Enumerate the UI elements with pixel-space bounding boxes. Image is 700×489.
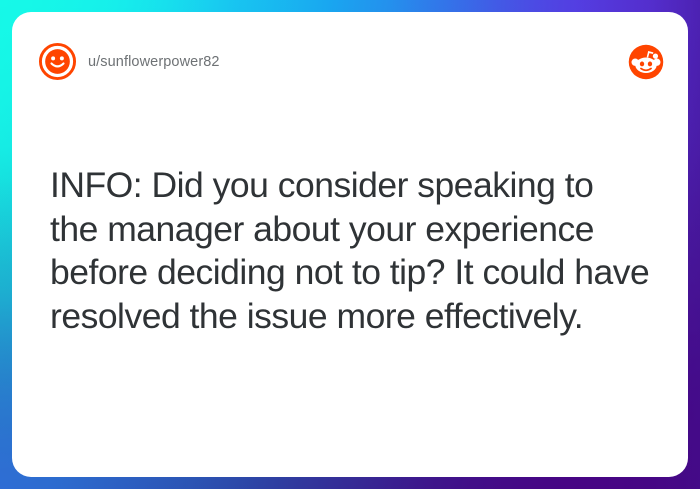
post-card-header: u/sunflowerpower82 — [12, 12, 688, 108]
post-author-username: u/sunflowerpower82 — [88, 54, 220, 70]
post-body-text: INFO: Did you consider speaking to the m… — [50, 164, 650, 338]
screenshot-stage: u/sunflowerpower82 — [0, 0, 700, 489]
smiley-face-avatar-icon — [38, 42, 77, 81]
reddit-snoo-logo-icon[interactable] — [628, 44, 664, 80]
post-author[interactable]: u/sunflowerpower82 — [38, 42, 220, 81]
post-card: u/sunflowerpower82 — [12, 12, 688, 477]
